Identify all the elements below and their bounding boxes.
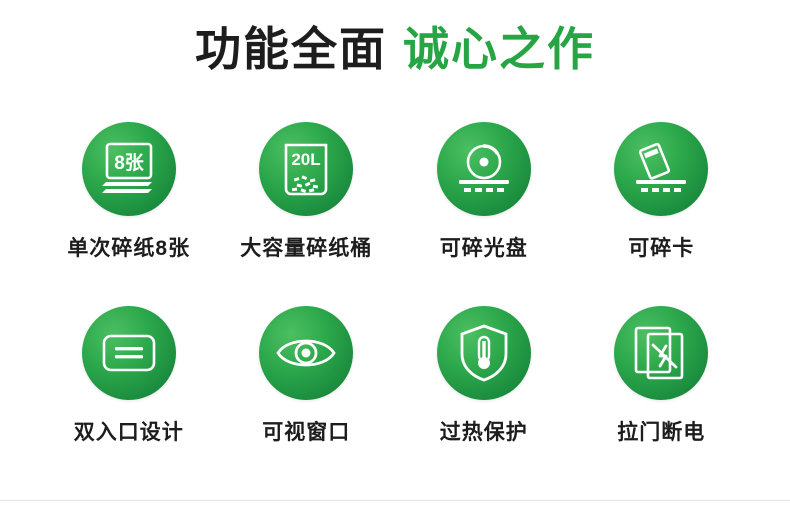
page-title-accent: 诚心之作 xyxy=(403,23,595,75)
eye-window-icon xyxy=(274,321,338,385)
feature-item-bin-capacity: 20L 大容量碎纸桶 xyxy=(218,122,396,262)
feature-label: 可碎光盘 xyxy=(440,232,528,262)
feature-item-dual-entry: 双入口设计 xyxy=(40,306,218,446)
feature-label: 双入口设计 xyxy=(74,416,184,446)
feature-label: 大容量碎纸桶 xyxy=(240,232,372,262)
door-power-cut-icon xyxy=(630,322,692,384)
feature-badge xyxy=(437,122,531,216)
svg-text:20L: 20L xyxy=(292,150,321,169)
feature-item-cd-shred: 可碎光盘 xyxy=(395,122,573,262)
feature-grid: 8张 单次碎纸8张 20L xyxy=(40,122,750,446)
cd-disc-shred-icon xyxy=(453,138,515,200)
paper-stack-8-sheets-icon: 8张 xyxy=(98,138,160,200)
bottom-divider xyxy=(0,500,790,501)
feature-badge xyxy=(82,306,176,400)
feature-badge xyxy=(437,306,531,400)
feature-label: 单次碎纸8张 xyxy=(67,232,190,262)
feature-badge xyxy=(614,306,708,400)
feature-item-overheat-protection: 过热保护 xyxy=(395,306,573,446)
feature-badge: 20L xyxy=(259,122,353,216)
card-shred-icon xyxy=(630,138,692,200)
feature-badge xyxy=(259,306,353,400)
feature-label: 可碎卡 xyxy=(628,232,694,262)
svg-text:8张: 8张 xyxy=(114,152,145,174)
page-title: 功能全面诚心之作 xyxy=(0,22,790,77)
bin-20l-icon: 20L xyxy=(275,138,337,200)
feature-badge xyxy=(614,122,708,216)
feature-label: 过热保护 xyxy=(440,416,528,446)
feature-item-card-shred: 可碎卡 xyxy=(573,122,751,262)
feature-item-door-power-cut: 拉门断电 xyxy=(573,306,751,446)
feature-item-view-window: 可视窗口 xyxy=(218,306,396,446)
page-title-primary: 功能全面 xyxy=(195,23,387,75)
feature-label: 拉门断电 xyxy=(617,416,705,446)
feature-label: 可视窗口 xyxy=(262,416,350,446)
feature-badge: 8张 xyxy=(82,122,176,216)
thermometer-shield-icon xyxy=(453,322,515,384)
dual-slot-entry-icon xyxy=(98,322,160,384)
feature-highlight-page: 功能全面诚心之作 8张 单次碎纸8张 20L xyxy=(0,0,790,515)
feature-item-paper-capacity: 8张 单次碎纸8张 xyxy=(40,122,218,262)
